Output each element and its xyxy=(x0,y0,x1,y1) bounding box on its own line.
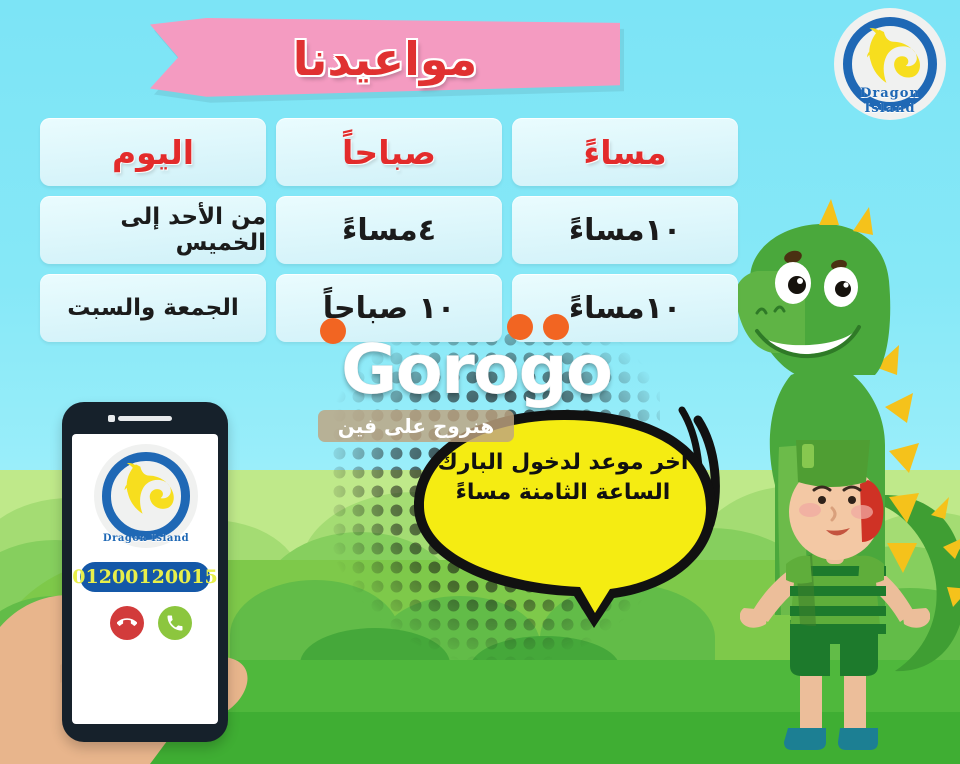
cell-evening-0-text: ١٠مساءً xyxy=(569,213,681,248)
call-actions xyxy=(100,606,192,640)
header-cell-day: اليوم xyxy=(40,118,266,186)
brand-logo-top[interactable]: Dragon Island xyxy=(834,8,946,120)
phone-call-icon[interactable] xyxy=(158,606,192,640)
header-day-label: اليوم xyxy=(112,133,194,172)
watermark: Gorogo هنروح على فين xyxy=(300,326,650,446)
table-row: من الأحد إلى الخميس ٤مساءً ١٠مساءً xyxy=(40,196,740,264)
table-header-row: اليوم صباحاً مساءً xyxy=(40,118,740,186)
cell-day-1: الجمعة والسبت xyxy=(40,274,266,342)
dragon-head-icon xyxy=(119,461,175,519)
page-title: مواعيدنا xyxy=(150,18,620,100)
header-morning-label: صباحاً xyxy=(342,133,436,172)
logo-brand-name: Dragon Island xyxy=(94,533,198,544)
dragon-head-icon xyxy=(861,26,921,89)
notice-text: أخر موعد لدخول البارك الساعة الثامنة مسا… xyxy=(426,448,700,507)
smartphone-mockup: Dragon Island 01200120015 xyxy=(62,402,228,742)
phone-camera-icon xyxy=(108,415,115,422)
notice-line-1: أخر موعد لدخول البارك xyxy=(426,448,700,478)
notice-line-2: الساعة الثامنة مساءً xyxy=(426,478,700,508)
header-cell-evening: مساءً xyxy=(512,118,738,186)
schedule-table: اليوم صباحاً مساءً من الأحد إلى الخميس ٤… xyxy=(40,118,740,352)
watermark-logo-text: Gorogo xyxy=(306,330,646,410)
logo-brand-name: Dragon Island xyxy=(834,86,946,116)
cell-evening-0: ١٠مساءً xyxy=(512,196,738,264)
cell-day-1-text: الجمعة والسبت xyxy=(67,295,238,321)
cell-evening-1-text: ١٠مساءً xyxy=(569,291,681,326)
cell-morning-0: ٤مساءً xyxy=(276,196,502,264)
cell-morning-0-text: ٤مساءً xyxy=(342,213,436,248)
phone-speaker-icon xyxy=(118,416,172,421)
phone-number-pill[interactable]: 01200120015 xyxy=(80,562,210,592)
phone-hangup-icon[interactable] xyxy=(110,606,144,640)
header-evening-label: مساءً xyxy=(583,133,666,172)
cell-day-0: من الأحد إلى الخميس xyxy=(40,196,266,264)
cell-morning-1-text: ١٠ صباحاً xyxy=(323,291,455,326)
phone-screen: Dragon Island 01200120015 xyxy=(72,434,218,724)
brand-logo-phone: Dragon Island xyxy=(94,444,198,548)
banner: مواعيدنا xyxy=(150,8,620,116)
header-cell-morning: صباحاً xyxy=(276,118,502,186)
poster-canvas: أخر موعد لدخول البارك الساعة الثامنة مسا… xyxy=(0,0,960,764)
watermark-tagline: هنروح على فين xyxy=(318,410,514,442)
cell-day-0-text: من الأحد إلى الخميس xyxy=(40,204,266,256)
boy-character xyxy=(740,432,930,764)
